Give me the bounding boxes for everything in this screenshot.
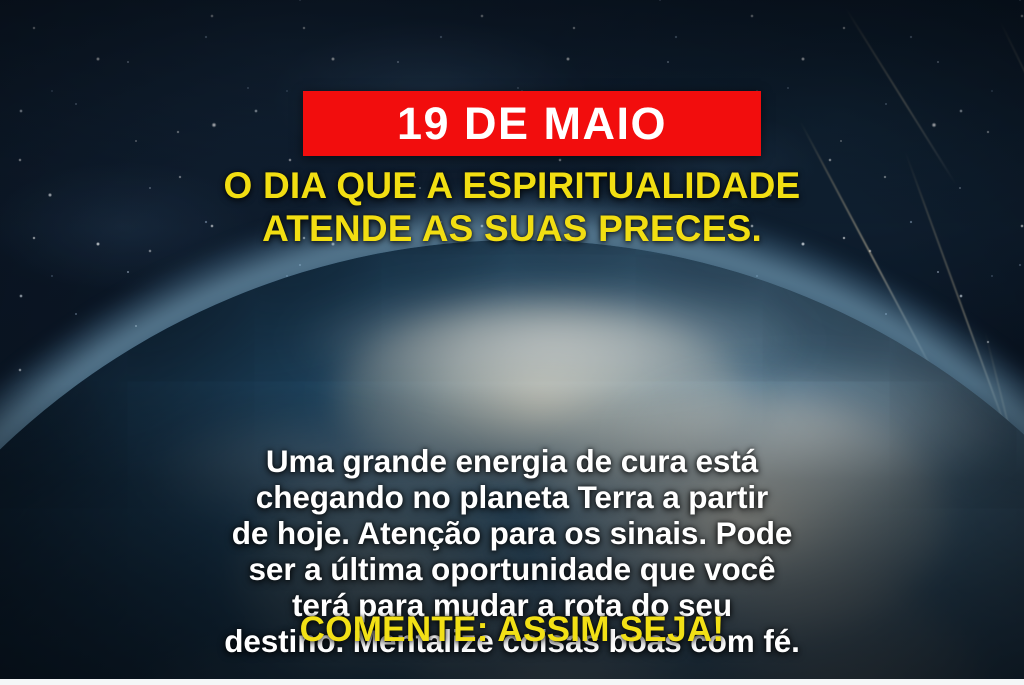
headline-line-1: O DIA QUE A ESPIRITUALIDADE <box>40 165 984 208</box>
body-line-2: chegando no planeta Terra a partir <box>62 479 962 515</box>
date-banner: 19 DE MAIO <box>303 91 761 156</box>
body-line-1: Uma grande energia de cura está <box>62 443 962 479</box>
date-banner-text: 19 DE MAIO <box>397 101 667 146</box>
poster-canvas: 19 DE MAIO O DIA QUE A ESPIRITUALIDADE A… <box>0 0 1024 685</box>
call-to-action-text: COMENTE: ASSIM SEJA! <box>0 612 1024 647</box>
bottom-edge-strip <box>0 679 1024 685</box>
headline: O DIA QUE A ESPIRITUALIDADE ATENDE AS SU… <box>0 165 1024 251</box>
body-line-4: ser a última oportunidade que você <box>62 551 962 587</box>
headline-line-2: ATENDE AS SUAS PRECES. <box>40 208 984 251</box>
body-line-3: de hoje. Atenção para os sinais. Pode <box>62 515 962 551</box>
poster-content: 19 DE MAIO O DIA QUE A ESPIRITUALIDADE A… <box>0 0 1024 685</box>
